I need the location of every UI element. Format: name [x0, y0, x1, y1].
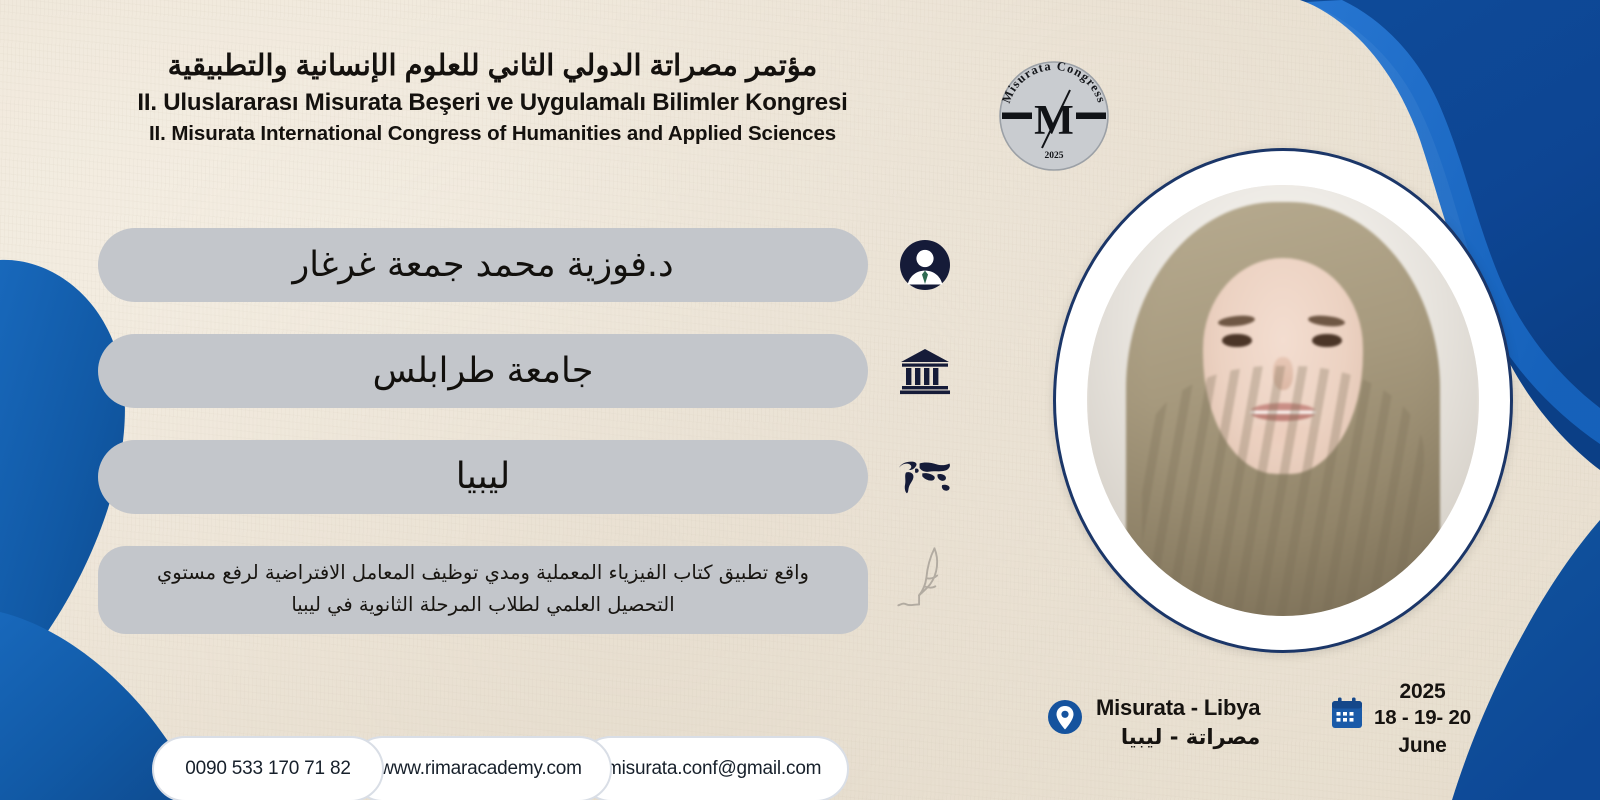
- speaker-affiliation-pill: جامعة طرابلس: [98, 334, 868, 408]
- date-year: 2025: [1374, 678, 1471, 705]
- contact-website[interactable]: www.rimaracademy.com: [350, 736, 612, 800]
- contact-bar: 0090 533 170 71 82 www.rimaracademy.com …: [152, 736, 849, 800]
- venue-city-arabic: مصراتة - ليبيا: [1096, 724, 1260, 751]
- speaker-photo: [1053, 148, 1513, 653]
- speaker-affiliation-row: جامعة طرابلس: [98, 334, 868, 408]
- world-map-icon: [897, 449, 953, 505]
- speaker-country-row: ليبيا: [98, 440, 868, 514]
- congress-title-english: II. Misurata International Congress of H…: [0, 122, 985, 146]
- quill-pen-icon: [892, 552, 948, 608]
- speaker-country-pill: ليبيا: [98, 440, 868, 514]
- contact-phone[interactable]: 0090 533 170 71 82: [152, 736, 384, 800]
- paper-title-pill: واقع تطبيق كتاب الفيزياء المعملية ومدي ت…: [98, 546, 868, 634]
- photo-clip: [1087, 185, 1479, 616]
- contact-email-text: misurata.conf@gmail.com: [606, 758, 821, 780]
- congress-title-block: مؤتمر مصراتة الدولي الثاني للعلوم الإنسا…: [0, 48, 985, 146]
- speaker-affiliation-text: جامعة طرابلس: [349, 354, 618, 389]
- speaker-portrait-image: [1087, 185, 1479, 616]
- speaker-name-pill: د.فوزية محمد جمعة غرغار: [98, 228, 868, 302]
- venue-text: Misurata - Libya مصراتة - ليبيا: [1096, 694, 1260, 751]
- congress-title-turkish: II. Uluslararası Misurata Beşeri ve Uygu…: [0, 89, 985, 117]
- date-text: 2025 18 - 19- 20 June: [1374, 678, 1471, 759]
- calendar-icon: [1330, 696, 1364, 735]
- contact-website-text: www.rimaracademy.com: [380, 758, 582, 780]
- date-days: 18 - 19- 20: [1374, 705, 1471, 732]
- congress-title-arabic: مؤتمر مصراتة الدولي الثاني للعلوم الإنسا…: [0, 48, 985, 84]
- contact-phone-text: 0090 533 170 71 82: [185, 758, 350, 780]
- venue-block: Misurata - Libya مصراتة - ليبيا: [1046, 694, 1260, 751]
- university-icon: [897, 343, 953, 399]
- conference-speaker-card: مؤتمر مصراتة الدولي الثاني للعلوم الإنسا…: [0, 0, 1600, 800]
- speaker-name-text: د.فوزية محمد جمعة غرغار: [268, 248, 697, 283]
- date-block: 2025 18 - 19- 20 June: [1330, 678, 1471, 759]
- speaker-info-fields: د.فوزية محمد جمعة غرغار جامعة طرابلس: [98, 228, 868, 666]
- paper-title-text: واقع تطبيق كتاب الفيزياء المعملية ومدي ت…: [128, 557, 838, 620]
- location-pin-icon: [1046, 698, 1084, 747]
- venue-city-english: Misurata - Libya: [1096, 694, 1260, 722]
- contact-email[interactable]: misurata.conf@gmail.com: [578, 736, 849, 800]
- speaker-country-text: ليبيا: [432, 459, 535, 495]
- person-icon: [897, 237, 953, 293]
- speaker-name-row: د.فوزية محمد جمعة غرغار: [98, 228, 868, 302]
- paper-title-row: واقع تطبيق كتاب الفيزياء المعملية ومدي ت…: [98, 546, 868, 634]
- date-month: June: [1374, 732, 1471, 759]
